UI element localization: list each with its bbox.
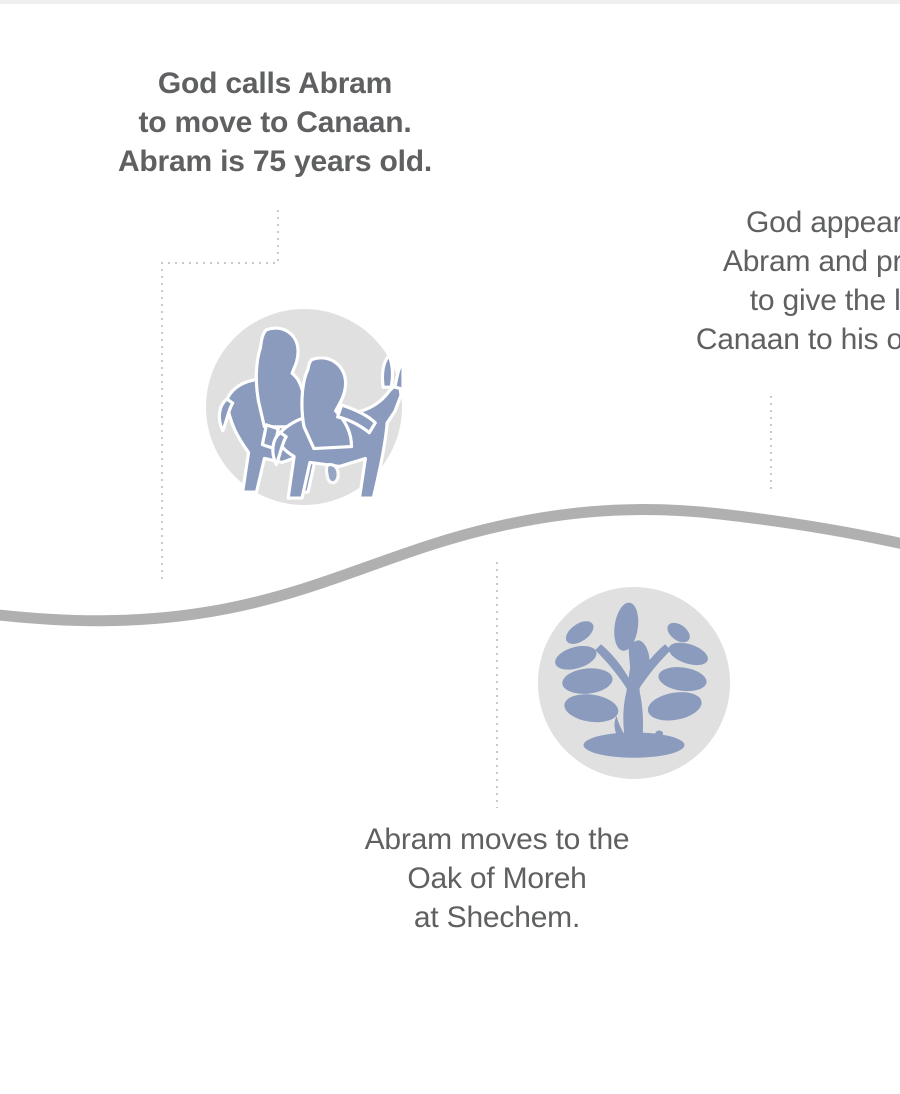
infographic-canvas: God calls Abram to move to Canaan. Abram… [0, 0, 900, 1094]
event-caption-call-of-abram: God calls Abram to move to Canaan. Abram… [40, 64, 510, 181]
event-caption-promise-of-land: God appears to Abram and promi to give t… [520, 203, 900, 359]
travelers-on-donkeys-icon [205, 308, 403, 506]
event-caption-oak-of-moreh: Abram moves to the Oak of Moreh at Shech… [282, 820, 712, 937]
top-edge-band [0, 0, 900, 4]
oak-tree-icon [537, 586, 731, 780]
timeline-curve [0, 510, 900, 621]
